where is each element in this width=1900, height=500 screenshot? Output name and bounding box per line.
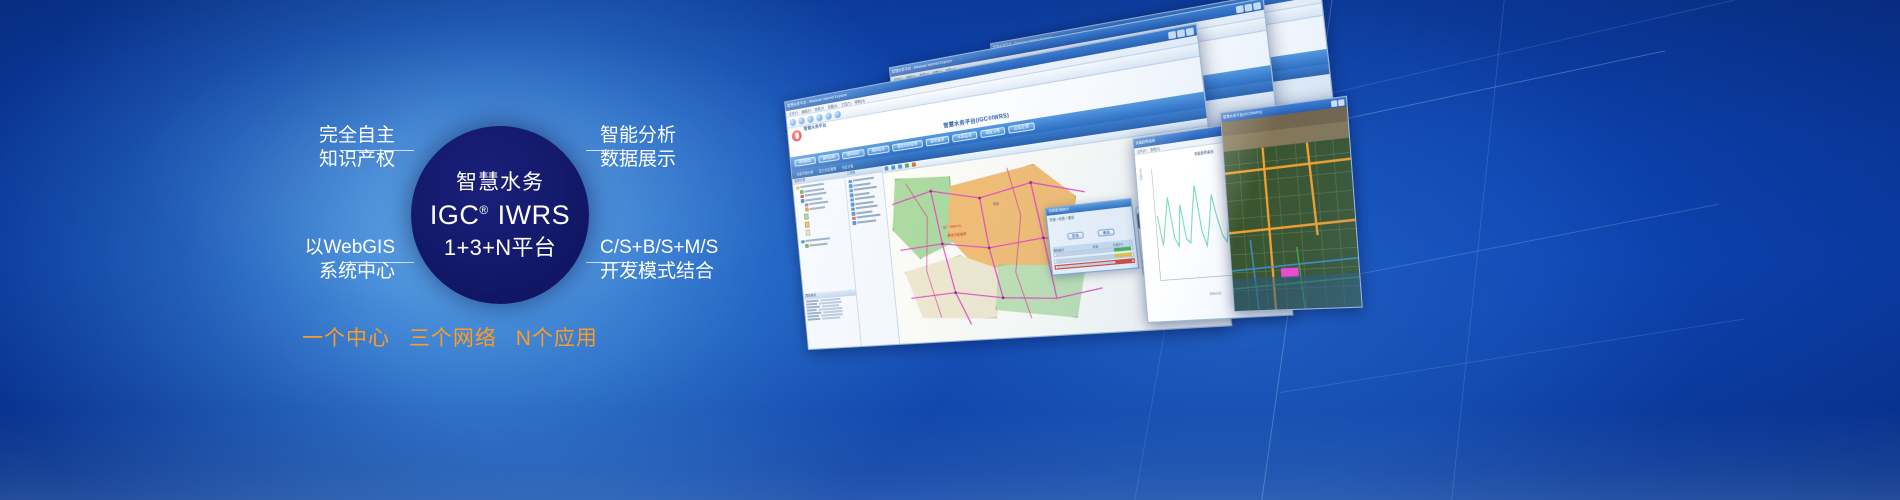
tagline-part-3: N个应用 (516, 327, 598, 350)
svg-text:水厂 DMA-01: 水厂 DMA-01 (942, 223, 961, 230)
hero-banner: 智慧水务平台 - Windows Internet Explorer 文件(F)… (0, 0, 1900, 500)
window-controls[interactable] (1331, 99, 1345, 107)
menu-item[interactable]: 文件(F) (1137, 147, 1147, 153)
badge-line-3: 1+3+N平台 (444, 237, 556, 259)
screenshot-cluster: 智慧水务平台 - Windows Internet Explorer 文件(F)… (790, 40, 1630, 370)
badge-iwrs: IWRS (498, 200, 571, 230)
identify-icon[interactable] (912, 162, 916, 167)
query-cancel-button[interactable]: 重置 (1098, 228, 1115, 237)
nav-button[interactable]: 水质监测 (952, 131, 977, 143)
query-dialog[interactable]: 管网查询统计 管径 / 材质 / 埋深 查询 重置 管段编号 状态 (1045, 198, 1140, 275)
tagline-part-1: 一个中心 (302, 327, 390, 350)
feature-bottom-right: C/S+B/S+M/S 开发模式结合 (600, 236, 718, 285)
nav-button[interactable]: 调度决策 (980, 126, 1006, 138)
feature-top-left: 完全自主 知识产权 (150, 124, 395, 173)
feature-top-right: 智能分析 数据展示 (600, 124, 676, 173)
feature-bottom-left-line2: 系统中心 (150, 260, 395, 284)
feature-bottom-right-line1: C/S+B/S+M/S (600, 236, 718, 260)
satellite-map-window[interactable]: 智慧水务平台(IGC®IWRS) (1220, 96, 1363, 312)
badge-line-1: 智慧水务 (456, 172, 544, 193)
tagline-part-2: 三个网络 (409, 327, 497, 350)
menu-item[interactable]: 查看(V) (1150, 145, 1160, 151)
badge-line-2: IGC®IWRS (430, 202, 570, 229)
badge-igc: IGC (430, 200, 480, 230)
svg-text:泵站: 泵站 (993, 201, 1000, 206)
svg-text:供水分区编号: 供水分区编号 (947, 231, 966, 238)
feature-bottom-right-line2: 开发模式结合 (600, 260, 718, 284)
feature-top-left-line2: 知识产权 (150, 148, 395, 172)
measure-icon[interactable] (905, 163, 909, 168)
feature-top-right-line2: 数据展示 (600, 148, 676, 172)
query-ok-button[interactable]: 查询 (1067, 231, 1084, 240)
hero-tagline: 一个中心 三个网络 N个应用 (150, 322, 750, 352)
nav-button[interactable]: 应急处置 (1008, 122, 1035, 134)
feature-bottom-left: 以WebGIS 系统中心 (150, 236, 395, 285)
center-badge: 智慧水务 IGC®IWRS 1+3+N平台 (411, 126, 589, 304)
nav-button[interactable]: 营收管理 (925, 135, 950, 147)
satellite-map-canvas[interactable] (1222, 106, 1362, 311)
feature-top-left-line1: 完全自主 (150, 124, 395, 148)
hero-diagram: 智慧水务 IGC®IWRS 1+3+N平台 完全自主 知识产权 以WebGIS … (0, 0, 900, 500)
feature-bottom-left-line1: 以WebGIS (150, 236, 395, 260)
registered-icon: ® (479, 203, 488, 217)
feature-top-right-line1: 智能分析 (600, 124, 676, 148)
